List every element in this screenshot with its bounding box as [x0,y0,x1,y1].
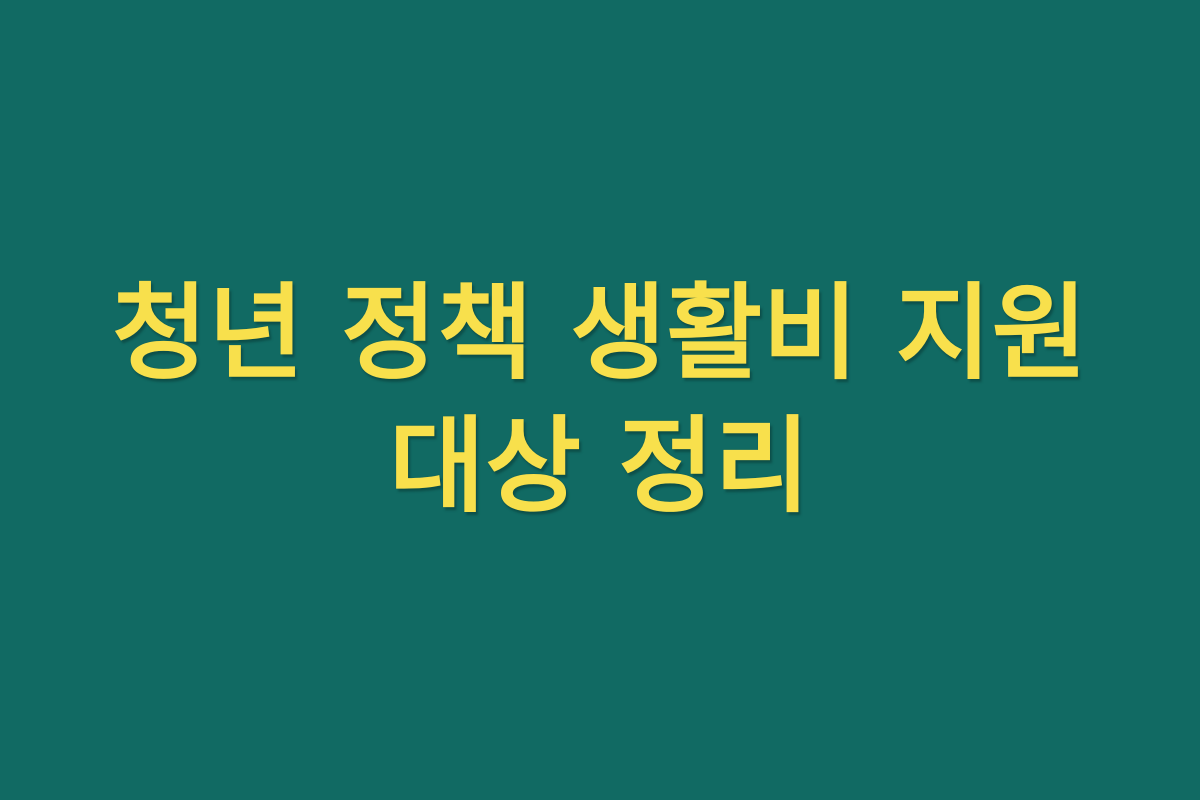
title-line-1: 청년 정책 생활비 지원 [70,266,1130,401]
banner-card: 청년 정책 생활비 지원 대상 정리 [0,0,1200,800]
title-line-2: 대상 정리 [70,399,1130,534]
page-title: 청년 정책 생활비 지원 대상 정리 [70,266,1130,534]
